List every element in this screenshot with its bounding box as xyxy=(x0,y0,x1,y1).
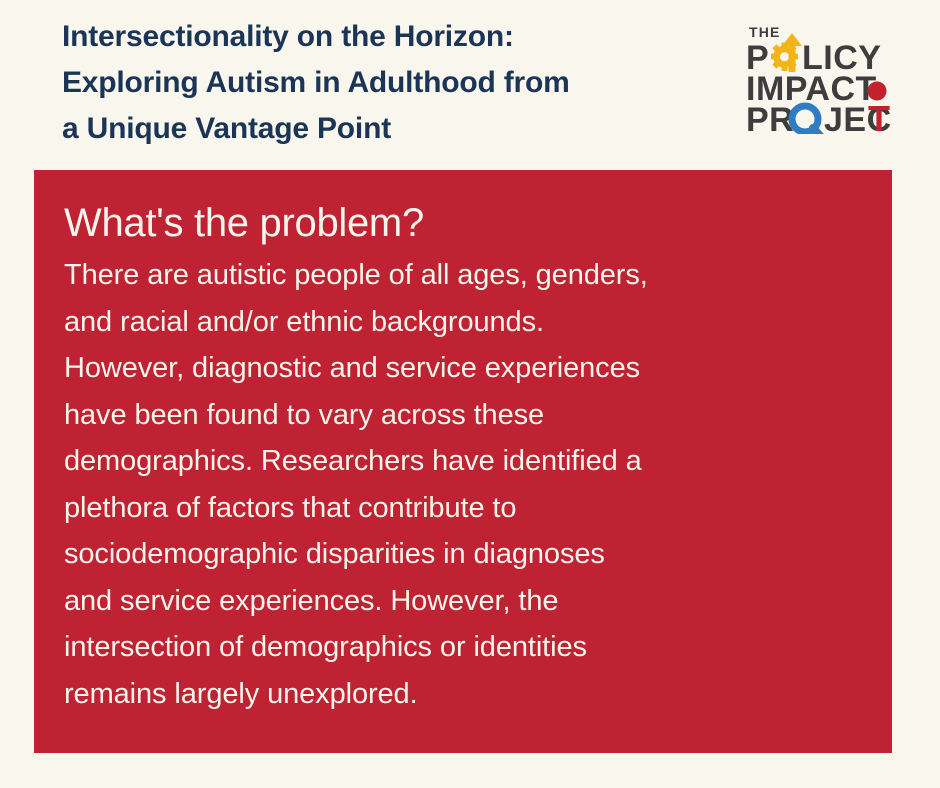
logo-artwork: THE P xyxy=(744,22,912,134)
card-body-line: sociodemographic disparities in diagnose… xyxy=(64,531,852,578)
page-title-line-1: Intersectionality on the Horizon: xyxy=(62,14,732,60)
card-body-line: remains largely unexplored. xyxy=(64,671,852,718)
page-title-line-3: a Unique Vantage Point xyxy=(62,106,732,152)
card-heading: What's the problem? xyxy=(64,198,852,248)
problem-statement-card: What's the problem? There are autistic p… xyxy=(34,170,892,753)
card-body-line: and service experiences. However, the xyxy=(64,578,852,625)
card-body-line: plethora of factors that contribute to xyxy=(64,485,852,532)
logo-project-prefix: PR xyxy=(746,101,794,134)
page-header: Intersectionality on the Horizon: Explor… xyxy=(0,0,940,170)
card-body-line: However, diagnostic and service experien… xyxy=(64,345,852,392)
logo-the-text: THE xyxy=(749,24,781,40)
page-title: Intersectionality on the Horizon: Explor… xyxy=(62,14,732,152)
card-body-line: intersection of demographics or identiti… xyxy=(64,624,852,671)
logo-project-final-t: T xyxy=(868,98,890,134)
page-title-line-2: Exploring Autism in Adulthood from xyxy=(62,60,732,106)
card-body-line: have been found to vary across these xyxy=(64,392,852,439)
policy-impact-project-logo: THE P xyxy=(744,22,912,134)
card-body-text: There are autistic people of all ages, g… xyxy=(64,252,852,717)
card-body-line: and racial and/or ethnic backgrounds. xyxy=(64,299,852,346)
magnifier-icon xyxy=(792,106,823,134)
card-body-line: There are autistic people of all ages, g… xyxy=(64,252,852,299)
card-body-line: demographics. Researchers have identifie… xyxy=(64,438,852,485)
